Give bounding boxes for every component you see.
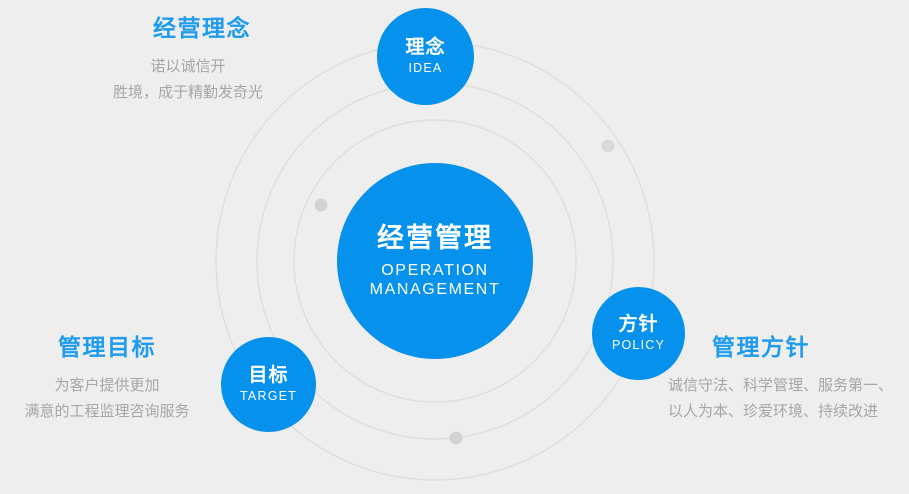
node-policy-cn-label: 方针 bbox=[618, 314, 658, 336]
block-target-body-line2: 满意的工程监理咨询服务 bbox=[0, 399, 214, 425]
node-target-en-label: TARGET bbox=[240, 389, 297, 404]
infographic-canvas: 经营管理 OPERATION MANAGEMENT 理念 IDEA 目标 TAR… bbox=[0, 0, 909, 494]
center-circle-cn-label: 经营管理 bbox=[377, 223, 493, 254]
block-target-body: 为客户提供更加 满意的工程监理咨询服务 bbox=[0, 373, 214, 426]
block-policy-body-line1: 诚信守法、科学管理、服务第一、 bbox=[668, 373, 909, 399]
block-policy-heading: 管理方针 bbox=[712, 333, 909, 363]
block-idea-body-line2: 胜境，成于精勤发奇光 bbox=[58, 80, 318, 106]
node-idea-cn-label: 理念 bbox=[405, 37, 445, 59]
block-idea-body-line1: 诺以诚信开 bbox=[58, 54, 318, 80]
block-idea-heading: 经营理念 bbox=[86, 14, 318, 44]
node-circle-idea[interactable]: 理念 IDEA bbox=[377, 8, 474, 105]
ring-dot-bottom bbox=[450, 432, 463, 445]
node-policy-en-label: POLICY bbox=[612, 338, 665, 353]
center-circle-operation-management[interactable]: 经营管理 OPERATION MANAGEMENT bbox=[337, 163, 533, 359]
center-circle-en-label-line2: MANAGEMENT bbox=[370, 280, 501, 299]
block-policy-body-line2: 以人为本、珍爱环境、持续改进 bbox=[668, 399, 909, 425]
center-circle-en-label-line1: OPERATION bbox=[381, 261, 488, 280]
ring-dot-upper-right bbox=[602, 140, 615, 153]
node-target-cn-label: 目标 bbox=[248, 365, 288, 387]
block-idea-body: 诺以诚信开 胜境，成于精勤发奇光 bbox=[58, 54, 318, 107]
text-block-idea: 经营理念 诺以诚信开 胜境，成于精勤发奇光 bbox=[58, 14, 318, 106]
block-target-heading: 管理目标 bbox=[0, 333, 214, 363]
text-block-target: 管理目标 为客户提供更加 满意的工程监理咨询服务 bbox=[0, 333, 214, 425]
block-policy-body: 诚信守法、科学管理、服务第一、 以人为本、珍爱环境、持续改进 bbox=[668, 373, 909, 426]
node-circle-target[interactable]: 目标 TARGET bbox=[221, 337, 316, 432]
text-block-policy: 管理方针 诚信守法、科学管理、服务第一、 以人为本、珍爱环境、持续改进 bbox=[668, 333, 909, 425]
node-idea-en-label: IDEA bbox=[409, 61, 443, 76]
block-target-body-line1: 为客户提供更加 bbox=[0, 373, 214, 399]
ring-dot-upper-left bbox=[315, 199, 328, 212]
